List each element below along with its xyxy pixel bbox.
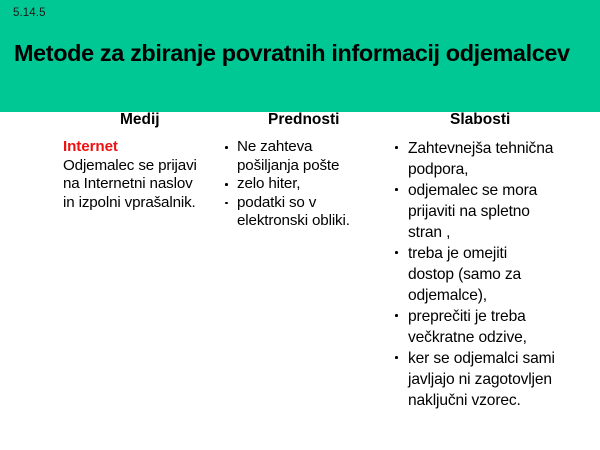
list-item-line: večkratne odzive, — [408, 327, 594, 348]
slide-body: Medij Internet Odjemalec se prijavi na I… — [0, 112, 600, 450]
column-slabosti: Slabosti Zahtevnejša tehnična podpora, o… — [386, 112, 594, 411]
list-item: preprečiti je treba večkratne odzive, — [386, 306, 594, 348]
bullet-icon — [225, 146, 228, 149]
slide: 5.14.5 Metode za zbiranje povratnih info… — [0, 0, 600, 450]
list-item-line: Zahtevnejša tehnična — [408, 138, 594, 159]
list-item-line: zelo hiter, — [237, 175, 387, 194]
list-item-line: stran , — [408, 222, 594, 243]
list-item: Zahtevnejša tehnična podpora, — [386, 138, 594, 180]
column-medij: Medij Internet Odjemalec se prijavi na I… — [58, 112, 236, 212]
list-item-line: pošiljanja pošte — [237, 157, 387, 176]
bullet-icon — [395, 356, 398, 359]
medij-description-line: in izpolni vprašalnik. — [63, 194, 236, 213]
list-item: podatki so v elektronski obliki. — [222, 194, 387, 231]
list-item-line: naključni vzorec. — [408, 390, 594, 411]
prednosti-list: Ne zahteva pošiljanja pošte zelo hiter, … — [222, 138, 387, 231]
medij-content: Internet Odjemalec se prijavi na Interne… — [58, 138, 236, 212]
bullet-icon — [395, 314, 398, 317]
list-item-line: podatki so v — [237, 194, 387, 213]
column-prednosti: Prednosti Ne zahteva pošiljanja pošte ze… — [222, 112, 387, 231]
bullet-icon — [395, 251, 398, 254]
slabosti-list: Zahtevnejša tehnična podpora, odjemalec … — [386, 138, 594, 411]
bullet-icon — [225, 202, 228, 205]
list-item-line: odjemalec se mora — [408, 180, 594, 201]
list-item: ker se odjemalci sami javljajo ni zagoto… — [386, 348, 594, 411]
column-header-prednosti: Prednosti — [222, 112, 387, 138]
medij-description: Odjemalec se prijavi na Internetni naslo… — [63, 157, 236, 213]
list-item-line: prijaviti na spletno — [408, 201, 594, 222]
list-item: zelo hiter, — [222, 175, 387, 194]
list-item-line: ker se odjemalci sami — [408, 348, 594, 369]
slide-number: 5.14.5 — [13, 8, 46, 20]
bullet-icon — [225, 183, 228, 186]
medij-description-line: Odjemalec se prijavi — [63, 157, 236, 176]
column-header-medij: Medij — [58, 112, 236, 138]
list-item-line: odjemalce), — [408, 285, 594, 306]
list-item-line: preprečiti je treba — [408, 306, 594, 327]
list-item-line: Ne zahteva — [237, 138, 387, 157]
slide-header-band: 5.14.5 Metode za zbiranje povratnih info… — [0, 0, 600, 112]
medij-term: Internet — [63, 138, 236, 157]
list-item: Ne zahteva pošiljanja pošte — [222, 138, 387, 175]
list-item: treba je omejiti dostop (samo za odjemal… — [386, 243, 594, 306]
bullet-icon — [395, 188, 398, 191]
list-item: odjemalec se mora prijaviti na spletno s… — [386, 180, 594, 243]
list-item-line: dostop (samo za — [408, 264, 594, 285]
bullet-icon — [395, 146, 398, 149]
list-item-line: javljajo ni zagotovljen — [408, 369, 594, 390]
column-header-slabosti: Slabosti — [386, 112, 594, 138]
slide-title: Metode za zbiranje povratnih informacij … — [14, 40, 594, 67]
list-item-line: treba je omejiti — [408, 243, 594, 264]
list-item-line: podpora, — [408, 159, 594, 180]
list-item-line: elektronski obliki. — [237, 212, 387, 231]
medij-description-line: na Internetni naslov — [63, 175, 236, 194]
